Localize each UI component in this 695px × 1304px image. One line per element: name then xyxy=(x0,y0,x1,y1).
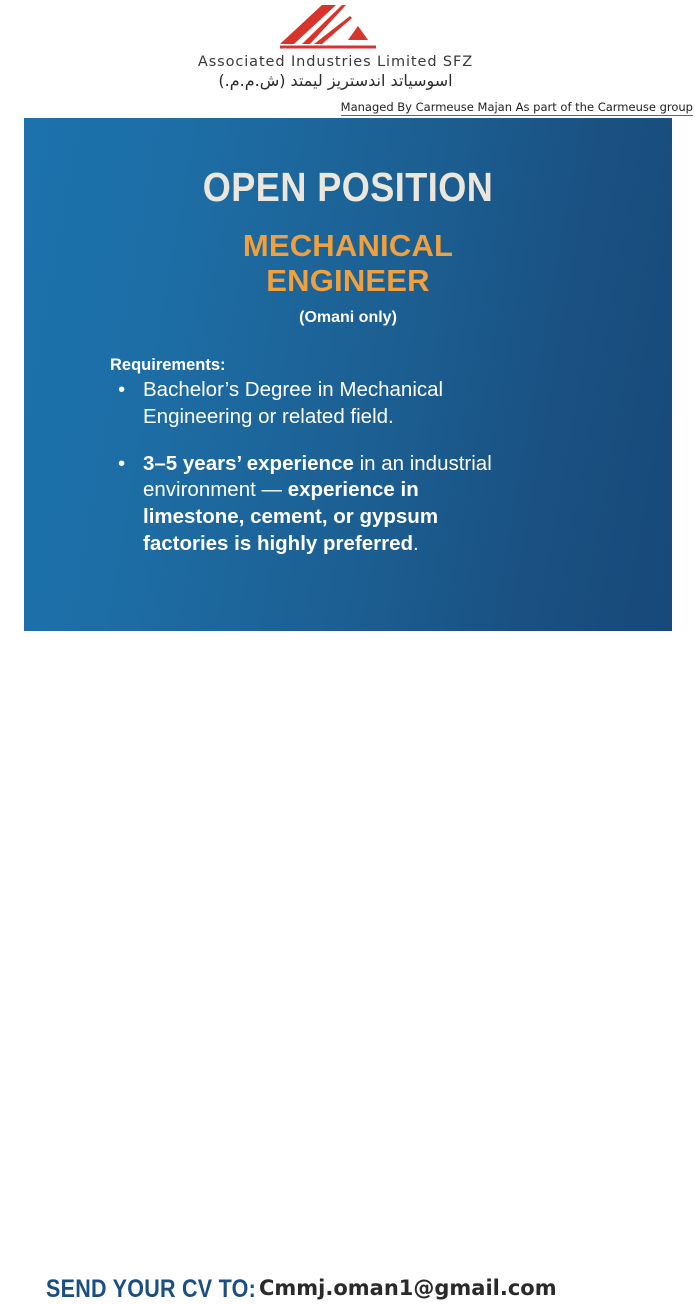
bullet-icon: • xyxy=(118,451,125,478)
requirement-item: •Bachelor’s Degree in Mechanical Enginee… xyxy=(110,377,521,430)
company-name-arabic: اسوسياتد اندستريز ليمتد (ش.م.م.) xyxy=(183,71,488,90)
requirements-heading: Requirements: xyxy=(110,356,672,375)
page-footer: SEND YOUR CV TO: Cmmj.oman1@gmail.com xyxy=(0,631,695,690)
job-title: MECHANICAL ENGINEER xyxy=(24,211,672,298)
job-title-line-2: ENGINEER xyxy=(24,264,672,299)
requirements-list: •Bachelor’s Degree in Mechanical Enginee… xyxy=(110,377,672,557)
requirement-item: •3–5 years’ experience in an industrial … xyxy=(110,451,521,558)
managed-by-tagline: Managed By Carmeuse Majan As part of the… xyxy=(341,100,693,116)
open-position-headline: OPEN POSITION xyxy=(63,118,633,211)
requirement-text: Bachelor’s Degree in Mechanical Engineer… xyxy=(143,378,443,428)
requirement-text: 3–5 years’ experience in an industrial e… xyxy=(143,452,492,555)
company-name-english: Associated Industries Limited SFZ xyxy=(183,54,488,70)
bullet-icon: • xyxy=(118,377,125,404)
job-poster-panel: OPEN POSITION MECHANICAL ENGINEER (Omani… xyxy=(24,118,672,631)
requirements-section: Requirements: •Bachelor’s Degree in Mech… xyxy=(24,327,672,557)
page-header: Associated Industries Limited SFZ اسوسيا… xyxy=(0,0,695,118)
eligibility-note: (Omani only) xyxy=(24,298,672,327)
red-mountain-triangle-logo-icon xyxy=(276,4,396,52)
company-logo-block: Associated Industries Limited SFZ اسوسيا… xyxy=(183,4,488,90)
contact-email[interactable]: Cmmj.oman1@gmail.com xyxy=(259,1276,557,1300)
send-cv-label: SEND YOUR CV TO: xyxy=(46,1275,256,1304)
job-title-line-1: MECHANICAL xyxy=(24,229,672,264)
